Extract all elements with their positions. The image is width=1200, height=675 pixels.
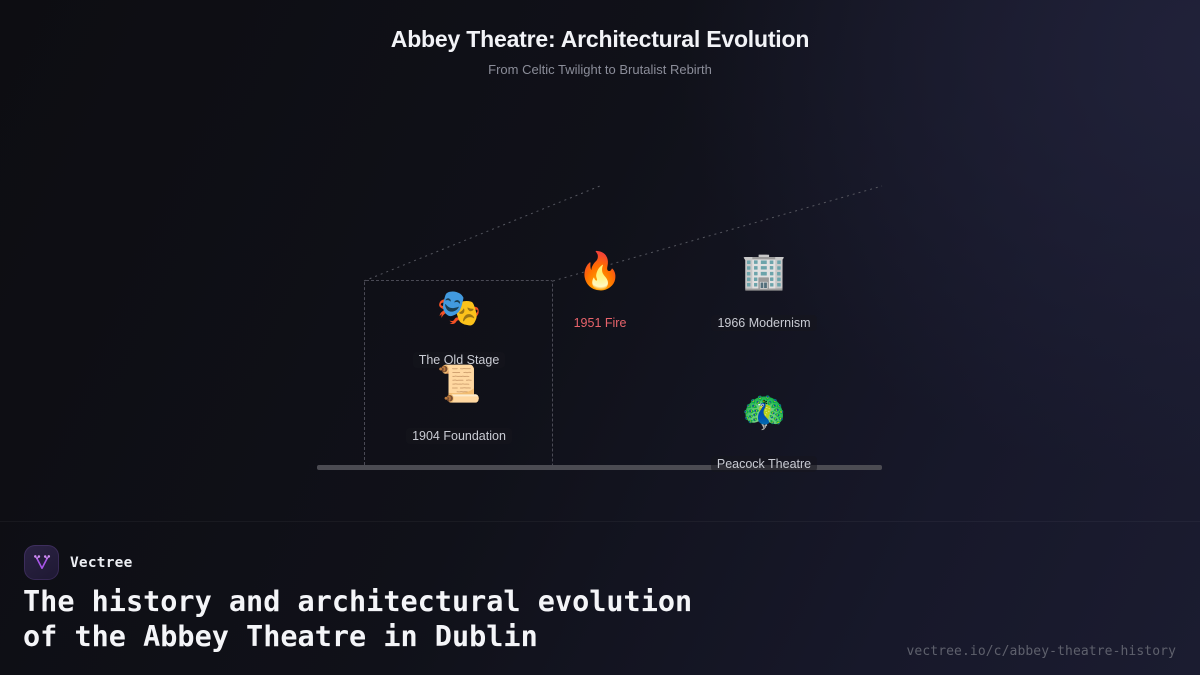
- brand[interactable]: Vectree: [24, 545, 133, 580]
- footer-url[interactable]: vectree.io/c/abbey-theatre-history: [906, 644, 1176, 659]
- fire-icon: 🔥: [530, 251, 670, 293]
- footer-headline-line1: The history and architectural evolution: [23, 585, 692, 618]
- diagram-node-foundation-1904[interactable]: 📜1904 Foundation: [389, 364, 529, 445]
- diagram-node-old-stage[interactable]: 🎭The Old Stage: [389, 288, 529, 369]
- diagram-node-peacock[interactable]: 🦚Peacock Theatre: [694, 392, 834, 473]
- office-building-icon: 🏢: [694, 251, 834, 293]
- screenshot-root: Abbey Theatre: Architectural Evolution F…: [0, 0, 1200, 675]
- diagram-node-label: Peacock Theatre: [711, 456, 817, 472]
- diagram-node-modernism-1966[interactable]: 🏢1966 Modernism: [694, 251, 834, 332]
- diagram-node-fire-1951[interactable]: 🔥1951 Fire: [530, 251, 670, 332]
- footer-headline-line2: of the Abbey Theatre in Dublin: [23, 620, 538, 653]
- peacock-icon: 🦚: [694, 392, 834, 434]
- performing-arts-masks-icon: 🎭: [389, 288, 529, 330]
- scroll-icon: 📜: [389, 364, 529, 406]
- footer: Vectree The history and architectural ev…: [0, 522, 1200, 675]
- diagram-node-label: 1951 Fire: [568, 315, 633, 331]
- vectree-logo-icon: [24, 545, 59, 580]
- diagram-node-label: 1966 Modernism: [711, 315, 816, 331]
- brand-name: Vectree: [70, 555, 133, 571]
- diagram-canvas: 🎭The Old Stage📜1904 Foundation🔥1951 Fire…: [0, 0, 1200, 520]
- diagram-node-label: 1904 Foundation: [406, 428, 512, 444]
- footer-headline: The history and architectural evolution …: [23, 584, 692, 654]
